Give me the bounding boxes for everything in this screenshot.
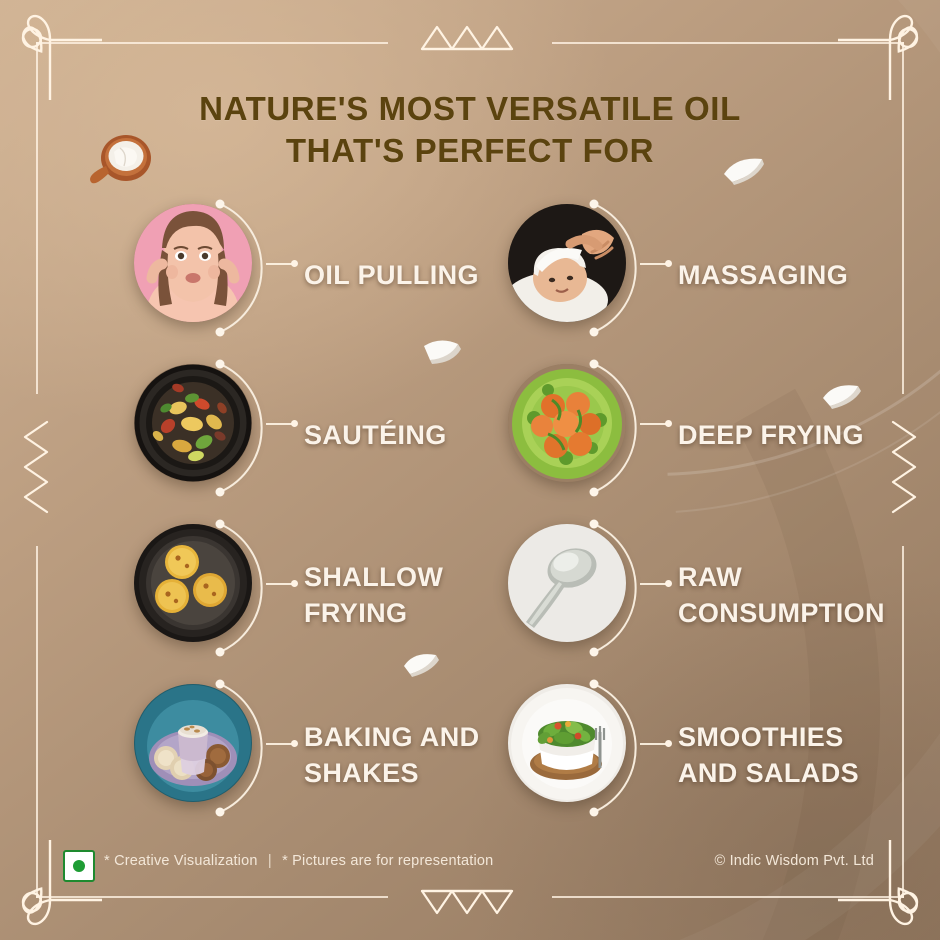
label-line-2: FRYING [304,596,443,632]
benefit-row: OIL PULLING [0,196,940,356]
benefit-item-smoothies-and-salads[interactable]: SMOOTHIES AND SALADS [500,676,920,836]
benefit-item-baking-and-shakes[interactable]: BAKING AND SHAKES [126,676,486,836]
benefit-label-shallow-frying: SHALLOW FRYING [304,516,443,676]
stir-fry-pan-photo [134,364,252,482]
footer-separator: | [268,853,272,869]
label-line-2: CONSUMPTION [678,596,885,632]
benefit-label-raw-consumption: RAW CONSUMPTION [678,516,885,676]
benefit-label-oil-pulling: OIL PULLING [304,196,479,356]
connector-line [640,423,668,425]
triangle-zigzag-icon [418,886,522,920]
poster-canvas: NATURE'S MOST VERSATILE OIL THAT'S PERFE… [0,0,940,940]
spoon-photo [508,524,626,642]
benefits-grid: OIL PULLING [0,196,940,836]
label-line-1: OIL PULLING [304,258,479,294]
thumbnail-wrap [500,676,634,810]
label-line-1: SAUTÉING [304,418,447,454]
benefit-row: SHALLOW FRYING [0,516,940,676]
poster-footer: * Creative Visualization | * Pictures ar… [0,848,940,882]
benefit-item-raw-consumption[interactable]: RAW CONSUMPTION [500,516,920,676]
salad-bowl-photo [508,684,626,802]
triangle-zigzag-icon [418,20,522,54]
woman-oil-pulling-photo [134,204,252,322]
coconut-chip-icon [718,152,768,186]
thumbnail-wrap [500,196,634,330]
connector-line [266,423,294,425]
benefit-item-shallow-frying[interactable]: SHALLOW FRYING [126,516,486,676]
label-line-1: RAW [678,560,885,596]
label-line-1: SMOOTHIES [678,720,859,756]
benefit-row: BAKING AND SHAKES [0,676,940,836]
footer-copyright: © Indic Wisdom Pvt. Ltd [714,853,874,869]
label-line-2: AND SALADS [678,756,859,792]
thumbnail-wrap [500,516,634,650]
thumbnail-wrap [126,356,260,490]
thumbnail-wrap [126,676,260,810]
vegetarian-mark-icon [63,850,95,882]
corner-ornament-icon [838,4,934,100]
head-massage-photo [508,204,626,322]
benefit-row: SAUTÉING [0,356,940,516]
label-line-1: BAKING AND [304,720,480,756]
connector-line [640,263,668,265]
shallow-fry-pan-photo [134,524,252,642]
thumbnail-wrap [126,516,260,650]
milkshake-cookies-photo [134,684,252,802]
vegetarian-dot [73,860,85,872]
coconut-in-wooden-bowl-icon [82,128,160,190]
connector-line [266,743,294,745]
benefit-label-baking-and-shakes: BAKING AND SHAKES [304,676,480,836]
footer-disclaimer: * Creative Visualization | * Pictures ar… [104,853,493,869]
benefit-item-massaging[interactable]: MASSAGING [500,196,920,356]
thumbnail-wrap [500,356,634,490]
fried-balls-green-bowl-photo [508,364,626,482]
corner-ornament-icon [6,4,102,100]
benefit-label-smoothies-and-salads: SMOOTHIES AND SALADS [678,676,859,836]
footer-note-1: * Creative Visualization [104,853,258,869]
label-line-1: MASSAGING [678,258,848,294]
label-line-1: SHALLOW [304,560,443,596]
title-line-1: NATURE'S MOST VERSATILE OIL [199,90,741,127]
connector-line [640,743,668,745]
label-line-1: DEEP FRYING [678,418,864,454]
connector-line [266,263,294,265]
thumbnail-wrap [126,196,260,330]
label-line-2: SHAKES [304,756,480,792]
connector-line [266,583,294,585]
benefit-item-deep-frying[interactable]: DEEP FRYING [500,356,920,516]
benefit-label-massaging: MASSAGING [678,196,848,356]
benefit-label-deep-frying: DEEP FRYING [678,356,864,516]
footer-note-2: * Pictures are for representation [282,853,493,869]
benefit-item-sauteing[interactable]: SAUTÉING [126,356,486,516]
benefit-item-oil-pulling[interactable]: OIL PULLING [126,196,486,356]
benefit-label-sauteing: SAUTÉING [304,356,447,516]
connector-line [640,583,668,585]
